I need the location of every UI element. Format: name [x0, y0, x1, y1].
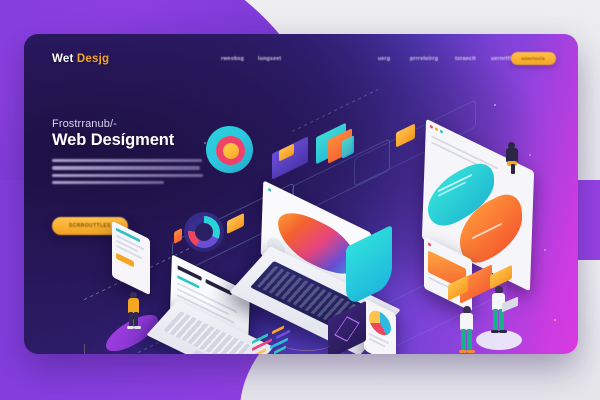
- person-left-orange: [124, 292, 146, 332]
- person-standing-right: [456, 306, 480, 354]
- mobile-card-left: [112, 221, 150, 296]
- decorative-curve: [84, 324, 125, 354]
- connector-dotline: [292, 89, 378, 132]
- decorative-curve: [212, 342, 272, 354]
- screenshot-stage: Wet Desjg rweobsg lungseet uerg prrrvloi…: [0, 0, 600, 400]
- isometric-illustration: [24, 34, 578, 354]
- landing-page-card: Wet Desjg rweobsg lungseet uerg prrrvloi…: [24, 34, 578, 354]
- purple-card: [272, 136, 308, 180]
- person-on-chat-bubble: [502, 142, 524, 176]
- donut-chart-inner: [223, 143, 239, 159]
- gauge-widget: [184, 212, 230, 258]
- decorative-curve: [284, 338, 330, 351]
- person-with-laptop: [488, 286, 512, 336]
